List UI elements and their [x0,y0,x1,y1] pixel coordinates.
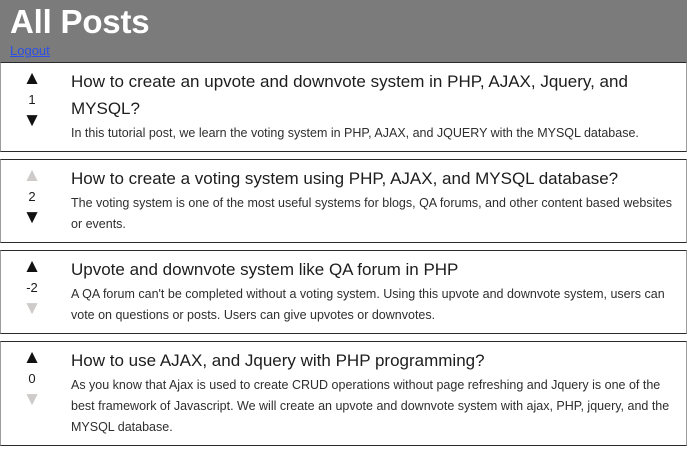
post-row: ▲-2▼Upvote and downvote system like QA f… [0,250,687,334]
logout-link[interactable]: Logout [10,43,50,59]
vote-count: 0 [28,368,35,390]
post-title[interactable]: How to create a voting system using PHP,… [71,165,678,192]
post-content: How to create an upvote and downvote sys… [63,63,686,151]
downvote-arrow-icon[interactable]: ▼ [23,111,42,131]
downvote-arrow-icon[interactable]: ▼ [23,299,42,319]
post-body: The voting system is one of the most use… [71,193,678,235]
post-content: How to use AJAX, and Jquery with PHP pro… [63,342,686,445]
vote-column: ▲0▼ [1,342,63,416]
page-header: All Posts Logout [0,0,687,62]
upvote-arrow-icon[interactable]: ▲ [23,348,42,368]
upvote-arrow-icon[interactable]: ▲ [23,166,42,186]
post-title[interactable]: How to create an upvote and downvote sys… [71,68,678,122]
post-row: ▲0▼How to use AJAX, and Jquery with PHP … [0,341,687,446]
downvote-arrow-icon[interactable]: ▼ [23,390,42,410]
post-title[interactable]: How to use AJAX, and Jquery with PHP pro… [71,347,678,374]
post-content: Upvote and downvote system like QA forum… [63,251,686,333]
post-list: ▲1▼How to create an upvote and downvote … [0,62,687,446]
vote-count: 1 [28,89,35,111]
post-content: How to create a voting system using PHP,… [63,160,686,242]
vote-column: ▲1▼ [1,63,63,137]
upvote-arrow-icon[interactable]: ▲ [23,257,42,277]
post-row: ▲2▼How to create a voting system using P… [0,159,687,243]
post-row: ▲1▼How to create an upvote and downvote … [0,62,687,152]
post-title[interactable]: Upvote and downvote system like QA forum… [71,256,678,283]
vote-column: ▲-2▼ [1,251,63,325]
downvote-arrow-icon[interactable]: ▼ [23,208,42,228]
post-body: A QA forum can't be completed without a … [71,284,678,326]
vote-count: 2 [28,186,35,208]
post-body: As you know that Ajax is used to create … [71,375,678,438]
vote-column: ▲2▼ [1,160,63,234]
vote-count: -2 [26,277,38,299]
upvote-arrow-icon[interactable]: ▲ [23,69,42,89]
page-title: All Posts [10,0,687,42]
post-body: In this tutorial post, we learn the voti… [71,123,678,144]
